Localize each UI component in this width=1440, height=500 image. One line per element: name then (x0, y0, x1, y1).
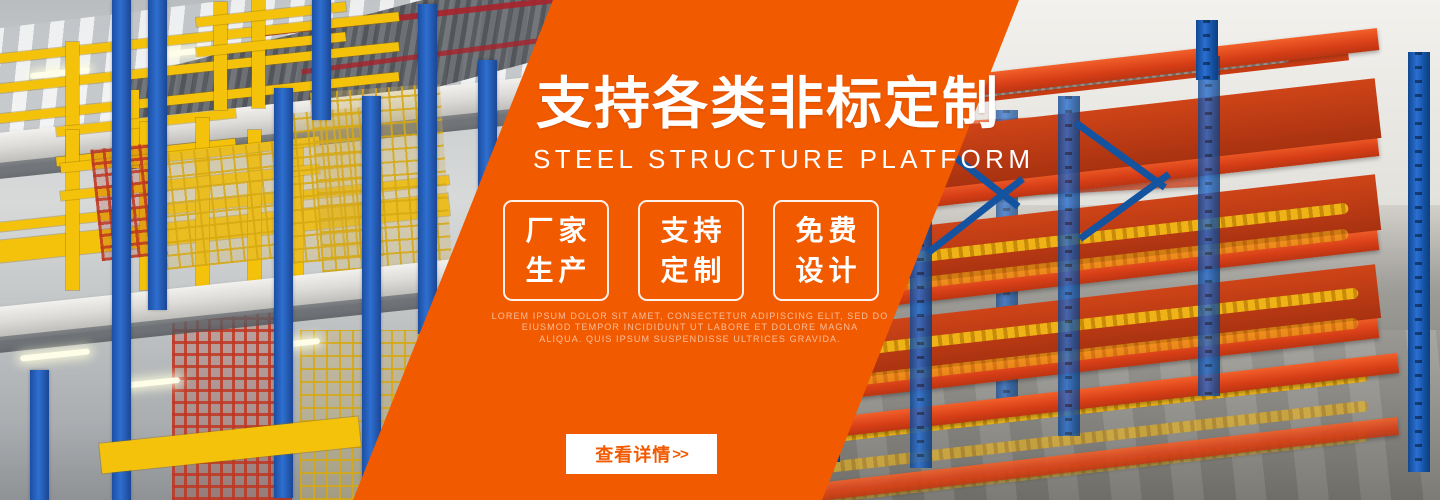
feature-badge-customization[interactable]: 支持 定制 (638, 200, 744, 301)
banner-description: LOREM IPSUM DOLOR SIT AMET, CONSECTETUR … (450, 311, 930, 345)
feature-badge-manufacturer[interactable]: 厂家 生产 (503, 200, 609, 301)
badge-line-1: 支持 (655, 211, 726, 251)
badge-line-2: 设计 (790, 251, 861, 291)
banner-content: 支持各类非标定制 STEEL STRUCTURE PLATFORM 厂家 生产 … (0, 0, 1440, 500)
description-line-2: EIUSMOD TEMPOR INCIDIDUNT UT LABORE ET D… (450, 322, 930, 333)
feature-badge-free-design[interactable]: 免费 设计 (773, 200, 879, 301)
badge-line-1: 厂家 (520, 211, 591, 251)
description-line-3: ALIQUA. QUIS IPSUM SUSPENDISSE ULTRICES … (450, 334, 930, 345)
description-line-1: LOREM IPSUM DOLOR SIT AMET, CONSECTETUR … (450, 311, 930, 322)
feature-badges: 厂家 生产 支持 定制 免费 设计 (503, 200, 879, 301)
badge-line-2: 定制 (655, 251, 726, 291)
promo-banner: 支持各类非标定制 STEEL STRUCTURE PLATFORM 厂家 生产 … (0, 0, 1440, 500)
cta-label: 查看详情 (595, 441, 671, 467)
badge-line-1: 免费 (790, 211, 861, 251)
banner-title: 支持各类非标定制 (536, 74, 1000, 134)
badge-line-2: 生产 (520, 251, 591, 291)
view-details-button[interactable]: 查看详情 >> (566, 434, 717, 474)
banner-subtitle: STEEL STRUCTURE PLATFORM (533, 144, 1034, 174)
chevron-right-icon: >> (672, 446, 688, 463)
